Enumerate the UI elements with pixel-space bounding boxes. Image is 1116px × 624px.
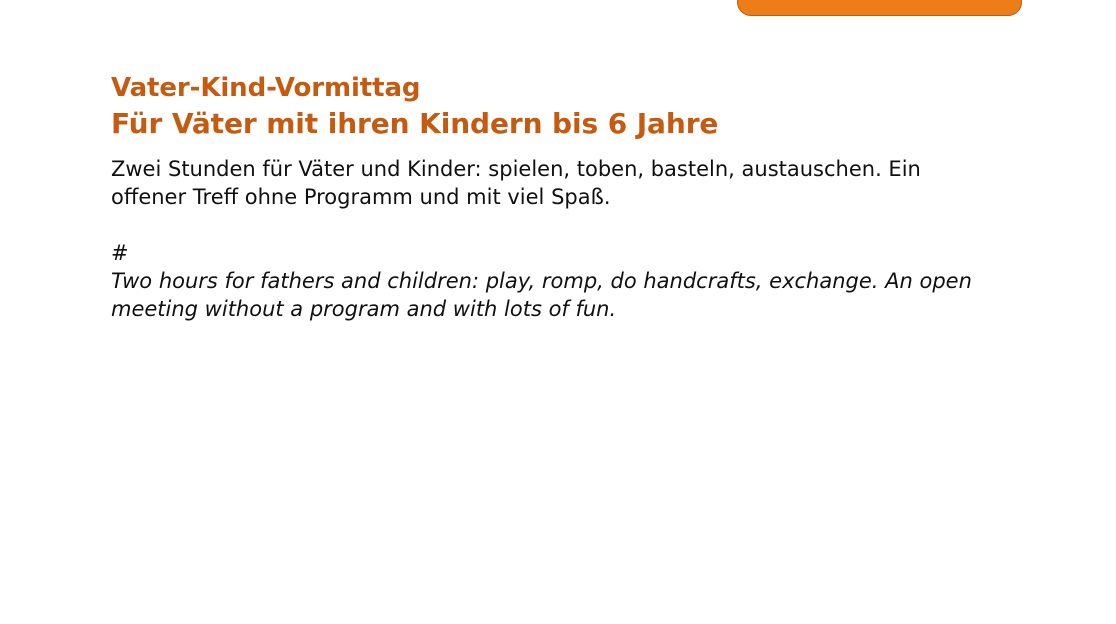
page-title-line-1: Vater-Kind-Vormittag (111, 72, 1041, 104)
description-german: Zwei Stunden für Väter und Kinder: spiel… (111, 155, 956, 211)
page-title-line-2: Für Väter mit ihren Kindern bis 6 Jahre (111, 107, 1041, 141)
text-content-block: Vater-Kind-Vormittag Für Väter mit ihren… (111, 72, 1041, 323)
orange-rounded-banner (737, 0, 1022, 16)
document-page: Vater-Kind-Vormittag Für Väter mit ihren… (0, 0, 1116, 624)
description-english: Two hours for fathers and children: play… (111, 267, 1006, 323)
separator-hash: # (111, 239, 1041, 267)
